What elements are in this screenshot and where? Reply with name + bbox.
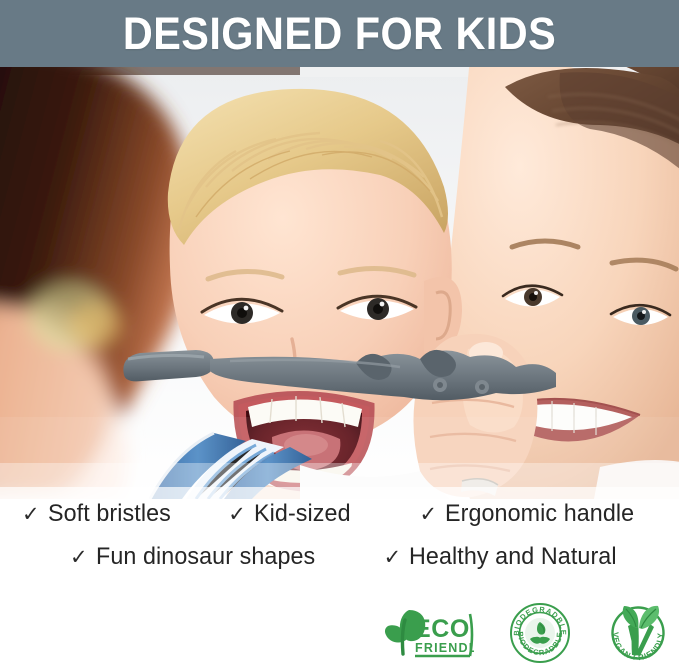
feature-label: Fun dinosaur shapes [96, 544, 315, 570]
product-infographic-card: DESIGNED FOR KIDS Smiling blonde toddler… [0, 0, 679, 669]
check-icon: ✓ [420, 504, 438, 525]
biodegradable-badge: BIODEGRADBLE BIODEGRADBLE [509, 602, 571, 664]
feature-row-1: ✓ Soft bristles ✓ Kid-sized ✓ Ergonomic … [0, 501, 679, 527]
header-banner: DESIGNED FOR KIDS [0, 0, 679, 67]
feature-kid-sized: ✓ Kid-sized [228, 501, 353, 527]
feature-soft-bristles: ✓ Soft bristles [22, 501, 174, 527]
check-icon: ✓ [22, 504, 40, 525]
eco-badge-line2: FRIENDLY [415, 641, 474, 655]
product-lifestyle-photo: Smiling blonde toddler with open mouth b… [0, 67, 679, 499]
check-icon: ✓ [384, 547, 402, 568]
check-icon: ✓ [70, 547, 88, 568]
feature-fun-dinosaur-shapes: ✓ Fun dinosaur shapes [70, 544, 322, 570]
certification-badges: ECO FRIENDLY BIODEGRADBLE [378, 602, 670, 664]
feature-label: Healthy and Natural [409, 544, 617, 570]
check-icon: ✓ [228, 504, 246, 525]
eco-friendly-badge: ECO FRIENDLY [378, 604, 474, 662]
feature-label: Soft bristles [48, 501, 171, 527]
feature-list: ✓ Soft bristles ✓ Kid-sized ✓ Ergonomic … [0, 499, 679, 599]
feature-healthy-and-natural: ✓ Healthy and Natural [384, 544, 624, 570]
feature-label: Kid-sized [254, 501, 351, 527]
feature-ergonomic-handle: ✓ Ergonomic handle [420, 501, 641, 527]
feature-row-2: ✓ Fun dinosaur shapes ✓ Healthy and Natu… [0, 544, 679, 570]
feature-label: Ergonomic handle [445, 501, 634, 527]
photo-illustration [0, 67, 679, 499]
page-title: DESIGNED FOR KIDS [123, 11, 556, 56]
vegan-friendly-badge: VEGAN FRIENDLY [606, 602, 670, 664]
eco-badge-line1: ECO [414, 615, 470, 643]
